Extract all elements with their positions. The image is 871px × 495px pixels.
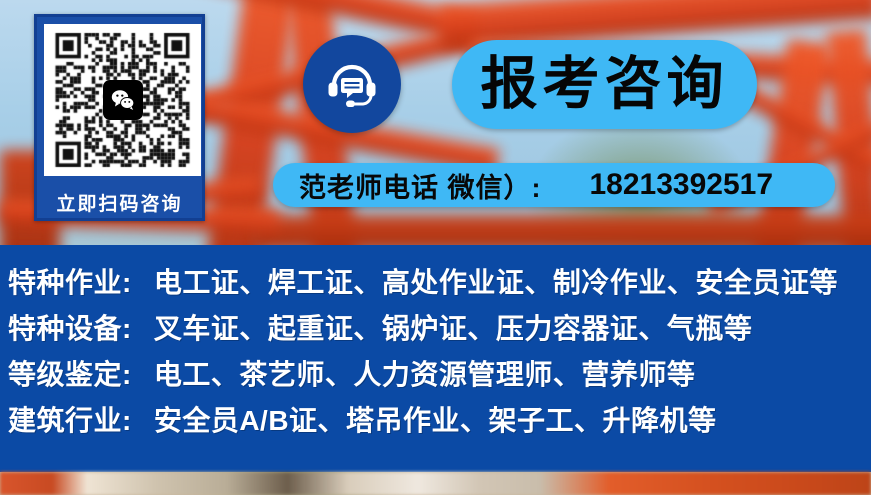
service-row-value: 叉车证、起重证、锅炉证、压力容器证、气瓶等 bbox=[154, 307, 753, 347]
wechat-logo-icon bbox=[103, 80, 143, 120]
qr-code-card[interactable]: 立即扫码咨询 bbox=[34, 14, 205, 221]
promo-banner: 立即扫码咨询 报考咨询 范老师电话 微信）: 18213392517 bbox=[0, 0, 871, 495]
service-row-special-equipment: 特种设备: 叉车证、起重证、锅炉证、压力容器证、气瓶等 bbox=[0, 307, 871, 353]
service-row-label: 等级鉴定: bbox=[8, 353, 132, 393]
service-row-label: 特种作业: bbox=[8, 261, 132, 301]
phone-number[interactable]: 18213392517 bbox=[590, 168, 774, 202]
service-list-panel: 特种作业: 电工证、焊工证、高处作业证、制冷作业、安全员证等 特种设备: 叉车证… bbox=[0, 245, 871, 472]
service-row-construction-industry: 建筑行业: 安全员A/B证、塔吊作业、架子工、升降机等 bbox=[0, 399, 871, 445]
bottom-photo-strip bbox=[0, 472, 871, 495]
service-row-value: 电工、茶艺师、人力资源管理师、营养师等 bbox=[154, 353, 696, 393]
phone-pill[interactable]: 范老师电话 微信）: 18213392517 bbox=[273, 163, 835, 207]
title-pill: 报考咨询 bbox=[452, 40, 757, 129]
service-row-label: 特种设备: bbox=[8, 307, 132, 347]
service-row-grade-assessment: 等级鉴定: 电工、茶艺师、人力资源管理师、营养师等 bbox=[0, 353, 871, 399]
headset-support-icon[interactable] bbox=[303, 35, 401, 133]
phone-label: 范老师电话 微信）: bbox=[299, 166, 542, 205]
title-pill-text: 报考咨询 bbox=[481, 56, 729, 113]
service-row-special-operations: 特种作业: 电工证、焊工证、高处作业证、制冷作业、安全员证等 bbox=[0, 261, 871, 307]
qr-card-caption: 立即扫码咨询 bbox=[37, 195, 202, 214]
qr-code-image[interactable] bbox=[44, 24, 201, 176]
service-row-label: 建筑行业: bbox=[8, 399, 132, 439]
service-row-value: 安全员A/B证、塔吊作业、架子工、升降机等 bbox=[154, 399, 717, 439]
service-row-value: 电工证、焊工证、高处作业证、制冷作业、安全员证等 bbox=[154, 261, 838, 301]
